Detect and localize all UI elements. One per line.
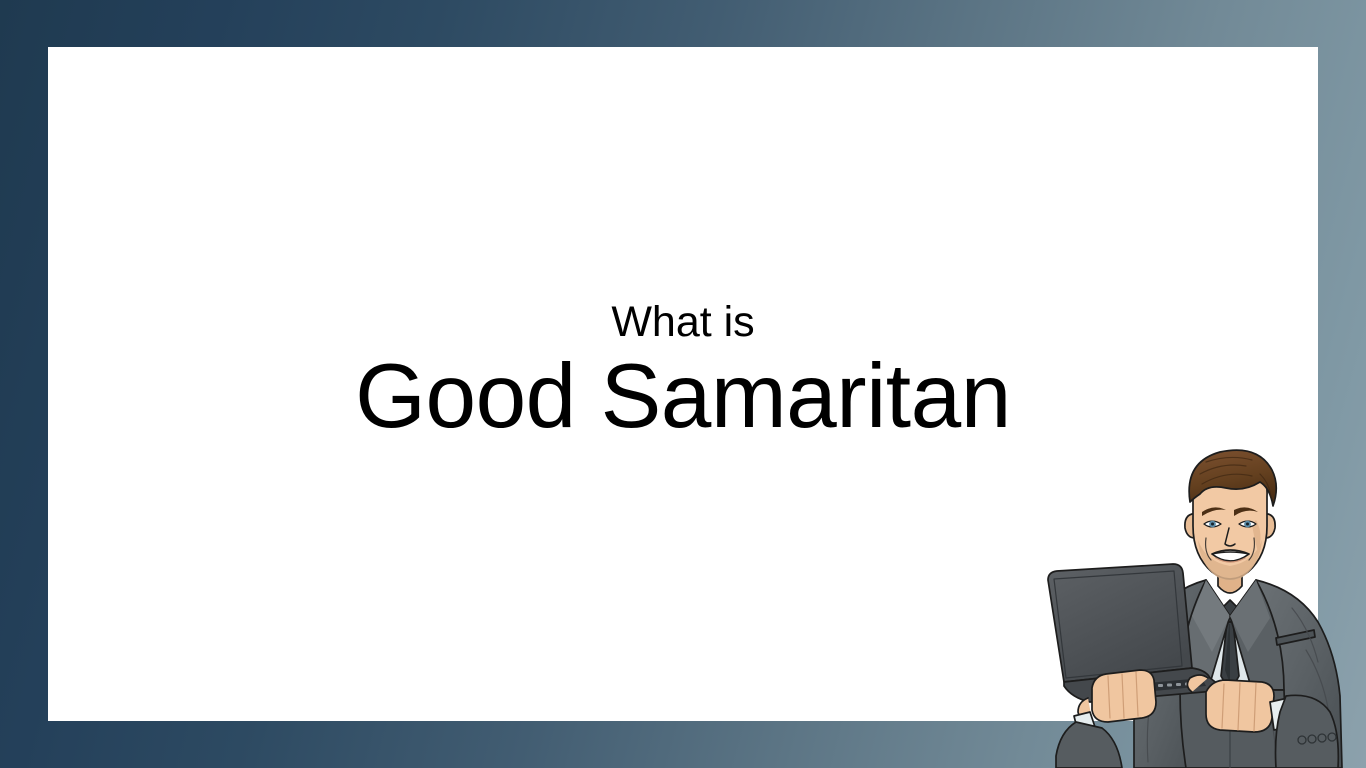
- slide-headline-text: Good Samaritan: [48, 348, 1318, 446]
- slide-eyebrow-text: What is: [48, 300, 1318, 346]
- slide-title-block: What is Good Samaritan: [48, 300, 1318, 446]
- slide-canvas: What is Good Samaritan: [0, 0, 1366, 768]
